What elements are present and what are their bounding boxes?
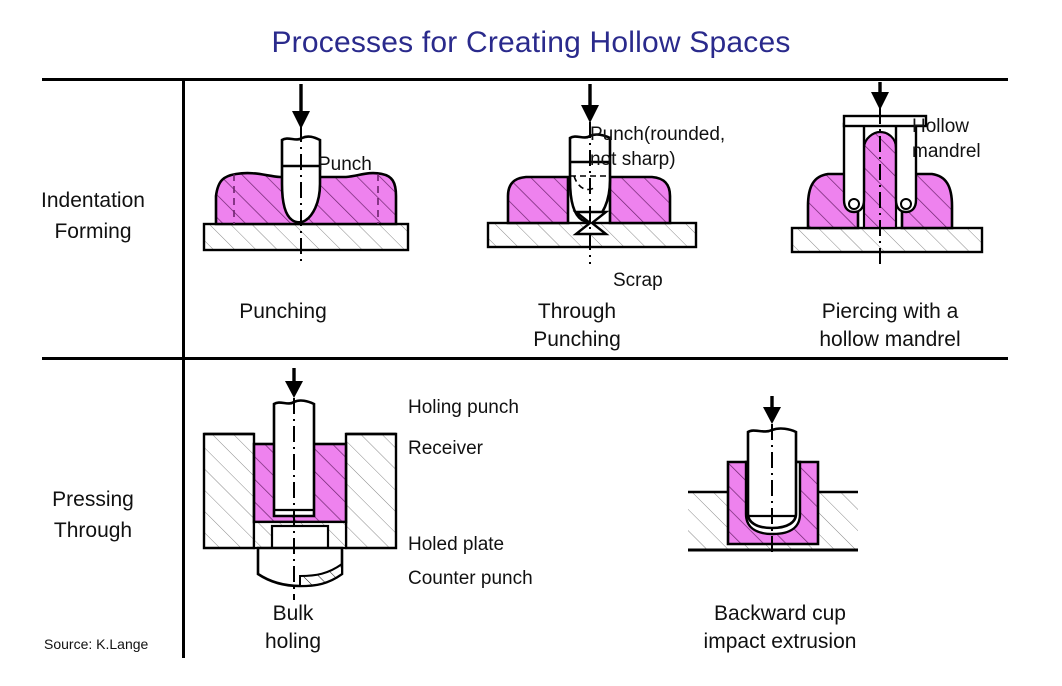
slide-canvas: Processes for Creating Hollow Spaces Ind…: [0, 0, 1062, 686]
caption-backward-cup-impact-extrusion: Backward cup impact extrusion: [650, 600, 910, 656]
figure-punching: [196, 84, 426, 264]
table-top-border: [42, 78, 1008, 81]
annotation-hollow-mandrel: Hollow mandrel: [912, 114, 981, 164]
caption-piercing-hollow-mandrel: Piercing with a hollow mandrel: [780, 298, 1000, 354]
table-column-divider: [182, 78, 185, 658]
page-title: Processes for Creating Hollow Spaces: [0, 26, 1062, 60]
annotation-punch-rounded: Punch(rounded, not sharp): [590, 122, 725, 172]
annotation-holing-punch: Holing punch: [408, 395, 519, 420]
row-label-pressing-through: Pressing Through: [8, 484, 178, 546]
figure-backward-cup-impact-extrusion: [672, 430, 892, 600]
annotation-scrap: Scrap: [613, 268, 663, 293]
row-label-indentation-forming: Indentation Forming: [8, 185, 178, 247]
annotation-receiver: Receiver: [408, 436, 483, 461]
workpiece-right: [610, 177, 670, 223]
figure-piercing-hollow-mandrel: [780, 84, 1010, 264]
punch-tool: [282, 137, 320, 223]
holed-plate: [254, 522, 346, 548]
receiver-right: [346, 434, 396, 548]
workpiece-left: [508, 177, 568, 223]
source-note: Source: K.Lange: [44, 636, 148, 652]
receiver-left: [204, 434, 254, 548]
figure-through-punching: [482, 84, 712, 264]
figure-bulk-holing: [198, 378, 408, 598]
caption-bulk-holing: Bulk holing: [212, 600, 374, 656]
annotation-holed-plate: Holed plate: [408, 532, 504, 557]
caption-through-punching: Through Punching: [492, 298, 662, 354]
table-row-divider: [42, 357, 1008, 360]
annotation-counter-punch: Counter punch: [408, 566, 533, 591]
caption-punching: Punching: [192, 298, 374, 326]
annotation-punch: Punch: [318, 152, 372, 177]
